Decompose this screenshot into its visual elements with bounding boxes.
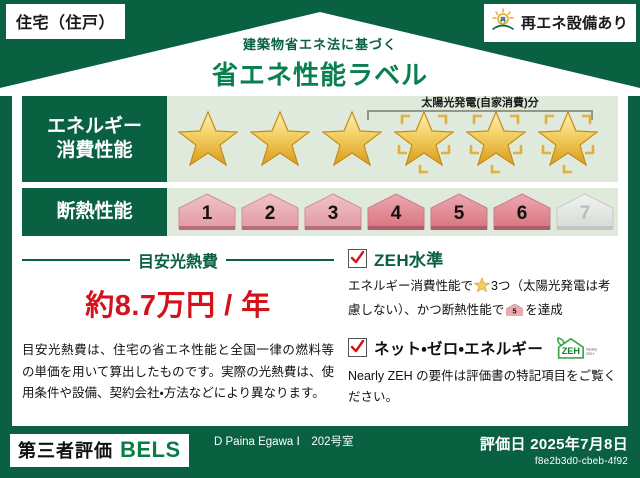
insulation-label-box: 断熱性能 — [22, 188, 167, 236]
heading-rule-left — [22, 259, 130, 261]
star-icon — [465, 109, 527, 169]
energy-performance-label-box: エネルギー 消費性能 — [22, 96, 167, 182]
renewable-equipment-label: 再エネ設備あり — [521, 12, 628, 33]
insulation-badge-icon: 5 — [506, 302, 523, 325]
star-rating — [167, 102, 618, 176]
utility-cost-value: 約8.7万円 / 年 — [22, 282, 334, 324]
zeh-standard-body: エネルギー消費性能で3つ（太陽光発電は考慮しない）、かつ断熱性能で5を達成 — [348, 276, 618, 326]
insulation-level-4-number: 4 — [391, 203, 402, 232]
insulation-level-2: 2 — [240, 192, 300, 232]
star-2 — [245, 102, 315, 176]
evaluation-date-block: 評価日 2025年7月8日 f8e2b3d0-cbeb-4f92 — [480, 433, 628, 467]
evaluation-date: 評価日 2025年7月8日 — [480, 433, 628, 454]
zeh-standard-title: ZEH水準 — [374, 246, 444, 271]
building-name: D Paina Egawa Ⅰ 202号室 — [214, 434, 444, 451]
heading-rule-right — [226, 259, 334, 261]
star-6-solar — [533, 102, 603, 176]
bels-en-label: BELS — [120, 437, 181, 463]
svg-text:ZEH: ZEH — [586, 351, 594, 355]
zeh-standard-block: ZEH水準 エネルギー消費性能で3つ（太陽光発電は考慮しない）、かつ断熱性能で5… — [348, 246, 618, 326]
evaluation-hash: f8e2b3d0-cbeb-4f92 — [480, 456, 628, 467]
zeh-netzero-body: Nearly ZEH の要件は評価書の特記項目をご覧ください。 — [348, 366, 618, 409]
insulation-level-4: 4 — [366, 192, 426, 232]
star-4-solar — [389, 102, 459, 176]
zeh-standard-heading: ZEH水準 — [348, 246, 618, 271]
insulation-level-1: 1 — [177, 192, 237, 232]
insulation-level-1-number: 1 — [202, 203, 213, 232]
home-type-label: 住宅（住戸） — [16, 15, 115, 32]
insulation-level-5-number: 5 — [454, 203, 465, 232]
star-icon — [474, 282, 490, 296]
footer-bar: 第三者評価 BELS D Paina Egawa Ⅰ 202号室 評価日 202… — [0, 426, 640, 478]
star-icon — [177, 109, 239, 169]
utility-cost-heading: 目安光熱費 — [22, 248, 334, 272]
zeh-netzero-heading: ネット・ゼロ・エネルギー ZEH Nearly ZEH — [348, 335, 618, 361]
energy-stars-area: 太陽光発電(自家消費)分 — [167, 96, 618, 182]
svg-text:Nearly: Nearly — [586, 347, 597, 351]
insulation-levels-area: 1 2 3 — [167, 188, 618, 236]
utility-cost-note: 目安光熱費は、住宅の省エネ性能と全国一律の燃料等の単価を用いて算出したものです。… — [22, 340, 334, 405]
insulation-level-3: 3 — [303, 192, 363, 232]
star-5-solar — [461, 102, 531, 176]
insulation-performance-row: 断熱性能 — [22, 188, 618, 236]
insulation-level-7: 7 — [555, 192, 615, 232]
label-title: 建築物省エネ法に基づく 省エネ性能ラベル — [0, 34, 640, 92]
checkmark-icon — [348, 338, 367, 357]
insulation-level-6-number: 6 — [517, 203, 528, 232]
lower-section: 目安光熱費 約8.7万円 / 年 目安光熱費は、住宅の省エネ性能と全国一律の燃料… — [22, 246, 618, 422]
zeh-column: ZEH水準 エネルギー消費性能で3つ（太陽光発電は考慮しない）、かつ断熱性能で5… — [344, 246, 618, 422]
insulation-label: 断熱性能 — [56, 200, 132, 224]
sun-renewable-icon: 再 — [490, 8, 516, 37]
zeh-body-post: を達成 — [525, 303, 563, 317]
zeh-logo-icon: ZEH Nearly ZEH — [554, 335, 600, 361]
svg-text:5: 5 — [513, 307, 517, 316]
svg-text:再: 再 — [500, 16, 506, 24]
bels-badge: 第三者評価 BELS — [10, 434, 189, 467]
header-band: 住宅（住戸） 再 再エネ設備あり — [0, 0, 640, 96]
star-icon — [249, 109, 311, 169]
insulation-level-6: 6 — [492, 192, 552, 232]
evaluation-date-label: 評価日 — [480, 436, 526, 453]
insulation-level-7-number: 7 — [580, 203, 591, 232]
energy-performance-row: エネルギー 消費性能 太陽光発電(自家消費)分 — [22, 96, 618, 182]
insulation-level-scale: 1 2 3 — [167, 192, 615, 232]
star-icon — [537, 109, 599, 169]
title-main: 省エネ性能ラベル — [0, 55, 640, 92]
evaluation-date-value: 2025年7月8日 — [530, 436, 628, 453]
energy-performance-label: 住宅（住戸） 再 再エネ設備あり — [0, 0, 640, 478]
zeh-netzero-block: ネット・ゼロ・エネルギー ZEH Nearly ZEH Nearly ZEH の… — [348, 335, 618, 409]
energy-label-line1: エネルギー — [47, 115, 142, 139]
utility-cost-heading-label: 目安光熱費 — [138, 248, 218, 272]
star-icon — [393, 109, 455, 169]
label-body-card: エネルギー 消費性能 太陽光発電(自家消費)分 — [12, 88, 628, 426]
zeh-body-pre: エネルギー消費性能で — [348, 279, 473, 293]
zeh-netzero-title: ネット・ゼロ・エネルギー — [374, 337, 543, 359]
insulation-level-5: 5 — [429, 192, 489, 232]
title-subtitle: 建築物省エネ法に基づく — [0, 34, 640, 53]
insulation-level-3-number: 3 — [328, 203, 339, 232]
star-1 — [173, 102, 243, 176]
bels-jp-label: 第三者評価 — [18, 437, 113, 463]
star-icon — [321, 109, 383, 169]
checkmark-icon — [348, 249, 367, 268]
svg-text:ZEH: ZEH — [562, 346, 580, 356]
insulation-level-2-number: 2 — [265, 203, 276, 232]
utility-cost-column: 目安光熱費 約8.7万円 / 年 目安光熱費は、住宅の省エネ性能と全国一律の燃料… — [22, 246, 344, 422]
energy-label-line2: 消費性能 — [47, 139, 142, 163]
star-3 — [317, 102, 387, 176]
